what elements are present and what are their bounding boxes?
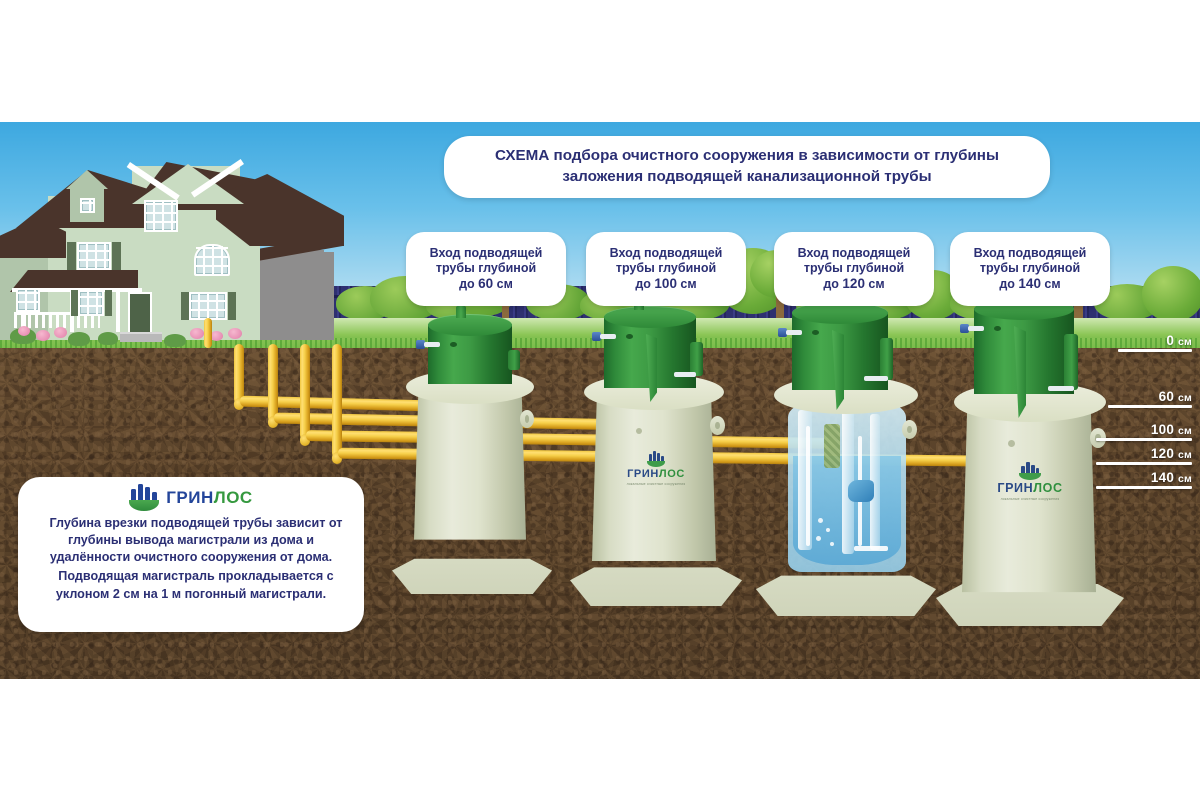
greenlos-mark-icon	[1019, 462, 1041, 480]
depth-marker-120: 120 см	[1096, 446, 1192, 465]
window-grid	[146, 202, 176, 230]
callout-4-line-2: трубы глубиной	[974, 261, 1087, 276]
tank-logo-part1: ГРИН	[627, 468, 659, 480]
air-bubble	[816, 536, 821, 541]
depth-marker-0: 0 см	[1118, 333, 1192, 352]
window-upper-center	[144, 200, 178, 232]
dormer-gable	[66, 170, 108, 189]
tank-port	[450, 342, 457, 347]
callout-4-line-1: Вход подводящей	[974, 246, 1087, 261]
window-porch	[16, 288, 40, 312]
flower	[54, 327, 67, 338]
depth-100-value: 100	[1151, 422, 1174, 437]
tank-outlet-pipe	[864, 376, 888, 381]
tank-brand-logo: ГРИНЛОС локальные очистные сооружения	[948, 462, 1112, 501]
depth-0-value: 0	[1166, 333, 1174, 348]
shrub	[164, 334, 186, 347]
tank-port	[626, 334, 633, 339]
window-grid	[196, 246, 228, 274]
callout-2-unit: см	[677, 277, 697, 291]
air-bubble	[830, 542, 834, 546]
tree-canopy	[1142, 266, 1200, 322]
tank-body-port	[1008, 440, 1015, 447]
shutter	[228, 292, 236, 320]
tank-valve-pipe	[968, 326, 984, 331]
air-bubble	[818, 518, 823, 523]
info-paragraph-2: Подводящая магистраль прокладывается с у…	[32, 568, 350, 602]
house-outlet-pipe	[204, 318, 212, 348]
callout-2-depth: до 100 см	[610, 276, 723, 292]
shrub	[98, 332, 118, 345]
supply-pipe-vertical-4	[332, 344, 342, 458]
title-line-2: заложения подводящей канализационной тру…	[495, 167, 999, 188]
infographic-canvas: ГРИНЛОС локальные очистные сооружения	[0, 122, 1200, 679]
tank-side-module	[880, 338, 893, 380]
tank-logo-subtitle: локальные очистные сооружения	[948, 497, 1112, 501]
depth-60-value: 60	[1159, 389, 1174, 404]
greenlos-mark-icon	[129, 485, 159, 511]
depth-marker-140: 140 см	[1096, 470, 1192, 489]
info-box: ГРИНЛОС Глубина врезки подводящей трубы …	[18, 477, 364, 632]
window-arched	[194, 244, 230, 276]
callout-bubble-3: Вход подводящей трубы глубиной до 120 см	[774, 232, 934, 306]
tank-valve-pipe	[786, 330, 802, 335]
depth-140-unit: см	[1178, 473, 1192, 485]
treatment-unit-1[interactable]	[398, 314, 546, 594]
air-tube	[806, 426, 810, 546]
window-grid	[79, 244, 109, 268]
treatment-unit-4[interactable]: ГРИНЛОС локальные очистные сооружения	[948, 306, 1112, 626]
window-grid	[80, 292, 102, 314]
tank-lifting-ear	[902, 420, 917, 439]
tank-side-module	[1064, 334, 1078, 390]
callout-1-line-2: трубы глубиной	[430, 261, 543, 276]
tank-lid	[604, 306, 696, 328]
depth-140-value: 140	[1151, 470, 1174, 485]
tank-valve-pipe	[424, 342, 440, 347]
info-box-text: Глубина врезки подводящей трубы зависит …	[32, 515, 350, 603]
tank-body-port	[636, 428, 642, 434]
tank-port	[994, 326, 1001, 331]
porch-post	[116, 290, 120, 332]
dormer-window	[80, 198, 95, 213]
depth-120-value: 120	[1151, 446, 1174, 461]
flower	[18, 326, 30, 336]
callout-bubble-1: Вход подводящей трубы глубиной до 60 см	[406, 232, 566, 306]
tank-outlet-pipe	[1048, 386, 1074, 391]
window-lower-right	[189, 292, 227, 320]
tank-logo-subtitle: локальные очистные сооружения	[578, 482, 734, 486]
depth-60-unit: см	[1178, 392, 1192, 404]
greenlos-logo: ГРИНЛОС	[32, 485, 350, 511]
callout-2-line-2: трубы глубиной	[610, 261, 723, 276]
diffuser	[854, 546, 888, 551]
shutter	[71, 290, 78, 316]
callout-3-line-2: трубы глубиной	[798, 261, 911, 276]
front-steps	[120, 332, 162, 342]
window-upper-left	[77, 242, 111, 270]
callout-1-unit: см	[493, 277, 513, 291]
depth-60-rule	[1108, 405, 1192, 408]
depth-0-unit: см	[1178, 336, 1192, 348]
tank-port	[812, 330, 819, 335]
callout-bubble-2: Вход подводящей трубы глубиной до 100 см	[586, 232, 746, 306]
callout-1-line-1: Вход подводящей	[430, 246, 543, 261]
callout-4-unit: см	[1041, 277, 1061, 291]
pump-unit	[848, 480, 874, 502]
tank-lifting-ear	[710, 416, 725, 435]
callout-bubble-4: Вход подводящей трубы глубиной до 140 см	[950, 232, 1110, 306]
treatment-unit-2[interactable]: ГРИНЛОС локальные очистные сооружения	[578, 310, 734, 606]
callout-1-depth: до 60 см	[430, 276, 543, 292]
depth-120-unit: см	[1178, 449, 1192, 461]
window-grid	[191, 294, 225, 318]
tank-outlet-pipe	[674, 372, 696, 377]
depth-0-rule	[1118, 349, 1192, 352]
tank-cutaway-interior	[788, 396, 906, 572]
interior-chamber-wall	[842, 406, 854, 554]
callout-4-depth: до 140 см	[974, 276, 1087, 292]
callout-4-value: 140	[1018, 276, 1041, 291]
air-bubble	[826, 528, 830, 532]
treatment-unit-3-cutaway[interactable]	[766, 308, 926, 616]
tank-valve-pipe	[600, 334, 616, 339]
info-paragraph-1: Глубина врезки подводящей трубы зависит …	[32, 515, 350, 566]
tank-lifting-ear	[520, 410, 534, 428]
callout-1-value: 60	[478, 276, 493, 291]
tank-vent	[456, 306, 466, 318]
depth-marker-100: 100 см	[1096, 422, 1192, 441]
callout-3-line-1: Вход подводящей	[798, 246, 911, 261]
title-banner: СХЕМА подбора очистного сооружения в зав…	[444, 136, 1050, 198]
window-lower-left	[78, 290, 104, 316]
logo-text-part1: ГРИН	[166, 488, 213, 507]
depth-100-rule	[1096, 438, 1192, 441]
supply-pipe-vertical-3	[300, 344, 310, 440]
window-grid	[82, 200, 93, 211]
tank-logo-part1: ГРИН	[997, 481, 1033, 495]
depth-120-rule	[1096, 462, 1192, 465]
depth-marker-60: 60 см	[1108, 389, 1192, 408]
shutter	[67, 242, 76, 270]
shutter	[105, 290, 112, 316]
tank-logo-part2: ЛОС	[1033, 481, 1062, 495]
tank-side-module	[508, 350, 520, 370]
tank-body	[414, 386, 526, 546]
callout-2-line-1: Вход подводящей	[610, 246, 723, 261]
depth-100-unit: см	[1178, 425, 1192, 437]
tank-logo-part2: ЛОС	[659, 468, 685, 480]
tank-lid	[428, 314, 512, 336]
tank-side-module	[690, 342, 703, 376]
house-illustration	[0, 132, 360, 350]
shutter	[181, 292, 189, 320]
tank-body	[962, 402, 1096, 600]
title-line-1: СХЕМА подбора очистного сооружения в зав…	[495, 146, 999, 167]
callout-3-unit: см	[865, 277, 885, 291]
greenlos-mark-icon	[647, 452, 665, 467]
window-grid	[18, 290, 38, 310]
flower	[190, 328, 204, 339]
supply-pipe-vertical-2	[268, 344, 278, 422]
tank-brand-logo: ГРИНЛОС локальные очистные сооружения	[578, 452, 734, 486]
shrub	[68, 332, 90, 346]
flower	[36, 330, 50, 341]
callout-3-value: 120	[842, 276, 865, 291]
callout-3-depth: до 120 см	[798, 276, 911, 292]
callout-2-value: 100	[654, 276, 677, 291]
shutter	[112, 242, 121, 270]
depth-140-rule	[1096, 486, 1192, 489]
flower	[228, 328, 242, 339]
logo-text-part2: ЛОС	[214, 488, 253, 507]
biofilter-media	[824, 424, 840, 468]
